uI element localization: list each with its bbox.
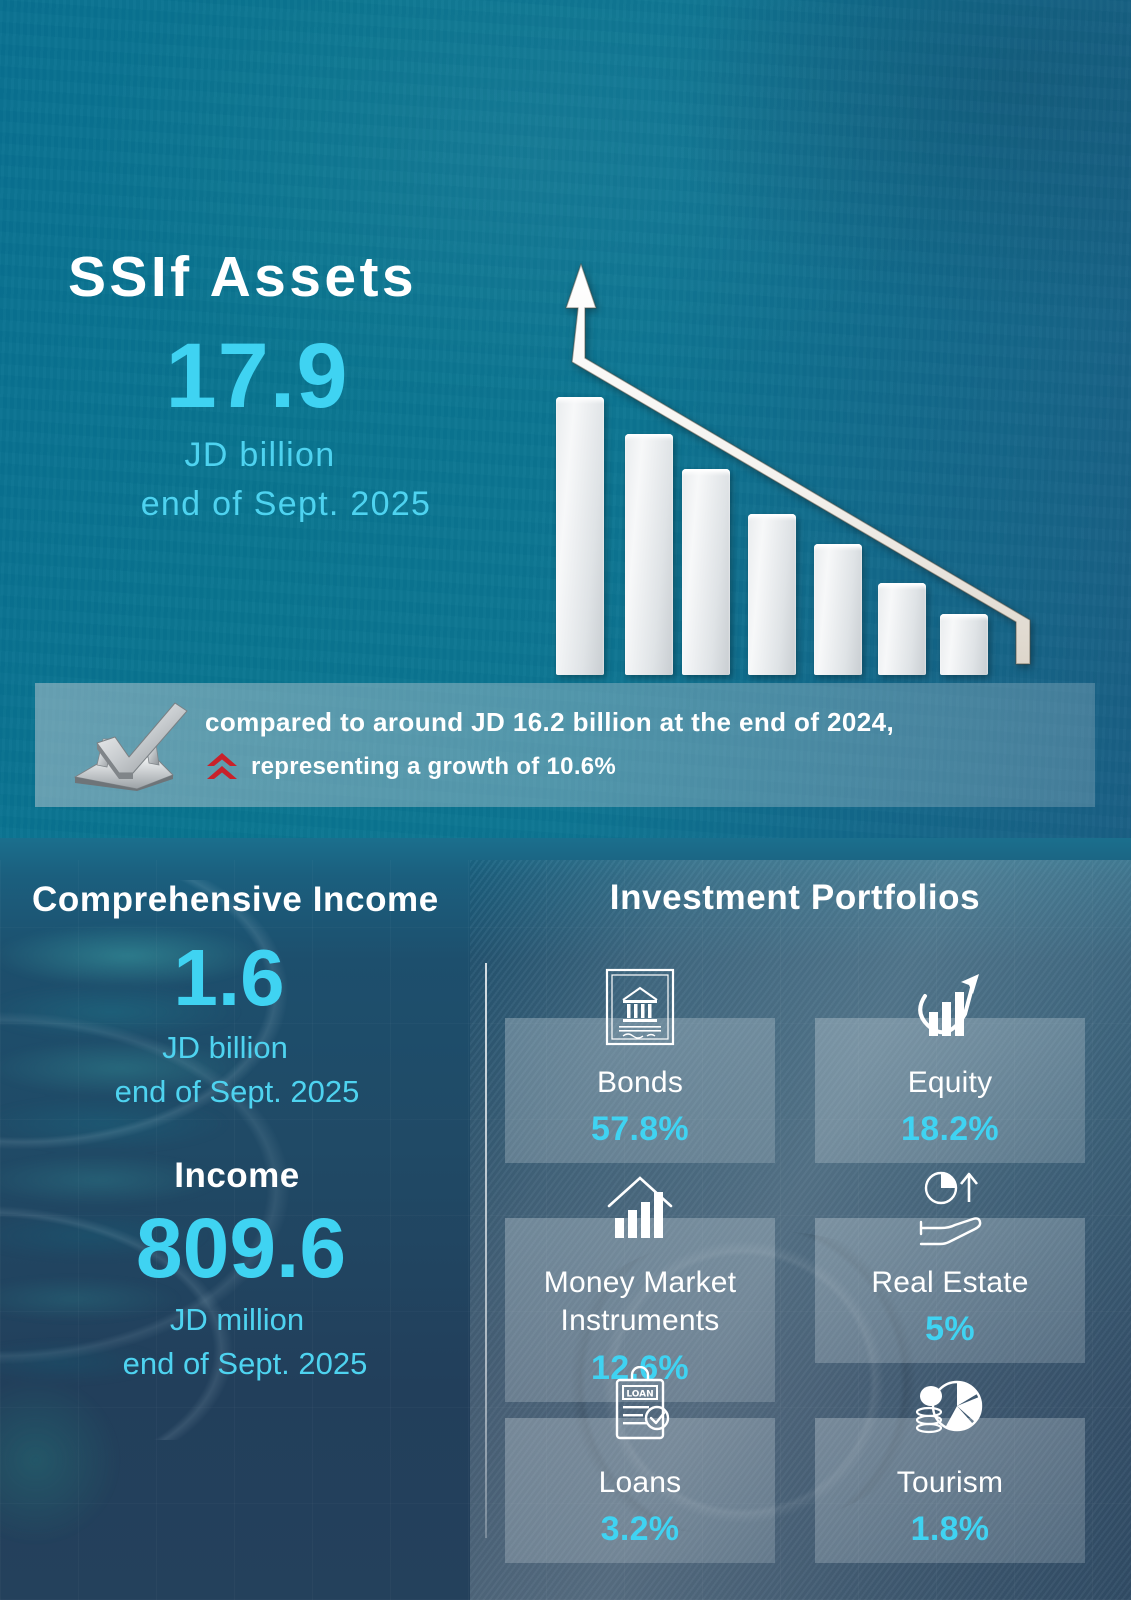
house-bar-chart-icon — [601, 1166, 679, 1248]
portfolio-card-real-estate[interactable]: Real Estate 5% — [815, 1218, 1085, 1363]
portfolio-card-equity[interactable]: Equity 18.2% — [815, 1018, 1085, 1163]
banner-line-2-row: representing a growth of 10.6% — [205, 750, 1075, 784]
portfolio-card-tourism[interactable]: Tourism 1.8% — [815, 1418, 1085, 1563]
hero-unit: JD billion — [68, 436, 508, 475]
svg-text:LOAN: LOAN — [626, 1390, 653, 1400]
assets-bar-chart — [520, 250, 1060, 675]
portfolio-label: Loans — [505, 1464, 775, 1502]
income-title: Income — [24, 1156, 474, 1196]
hero-stat-block: SSIf Assets 17.9 JD billion end of Sept.… — [68, 248, 508, 524]
portfolio-value: 5% — [815, 1310, 1085, 1363]
portfolio-card-loans[interactable]: LOAN Loans 3.2% — [505, 1418, 775, 1563]
loan-clipboard-icon: LOAN — [601, 1366, 679, 1448]
portfolio-value: 57.8% — [505, 1110, 775, 1163]
double-chevron-up-icon — [205, 750, 239, 784]
income-section: Comprehensive Income 1.6 JD billion end … — [24, 880, 474, 1382]
comprehensive-income-unit: JD billion — [24, 1030, 474, 1066]
banner-line-2-text: representing a growth of 10.6% — [251, 753, 616, 781]
investment-portfolios-title: Investment Portfolios — [490, 878, 1110, 918]
portfolio-label: Money Market Instruments — [505, 1264, 775, 1341]
banner-text-block: compared to around JD 16.2 billion at th… — [205, 707, 1075, 784]
hero-date: end of Sept. 2025 — [68, 485, 508, 524]
investment-portfolios-section: Investment Portfolios — [490, 878, 1110, 942]
portfolio-value: 18.2% — [815, 1110, 1085, 1163]
portfolio-label: Real Estate — [815, 1264, 1085, 1302]
bond-certificate-icon — [601, 966, 679, 1048]
income-unit: JD million — [24, 1302, 474, 1338]
column-divider — [485, 963, 487, 1538]
portfolio-label: Equity — [815, 1064, 1085, 1102]
page-title: SSIf Assets — [68, 248, 508, 308]
banner-line-1: compared to around JD 16.2 billion at th… — [205, 707, 1075, 738]
portfolio-value: 1.8% — [815, 1510, 1085, 1563]
trend-arrow-icon — [520, 250, 1060, 675]
comprehensive-income-title: Comprehensive Income — [24, 880, 474, 920]
portfolio-card-bonds[interactable]: Bonds 57.8% — [505, 1018, 775, 1163]
check-mark-3d-icon — [63, 699, 193, 791]
pie-chart-hand-icon — [911, 1166, 989, 1248]
portfolio-value: 3.2% — [505, 1510, 775, 1563]
income-value: 809.6 — [24, 1206, 474, 1290]
growth-chart-arrow-icon — [911, 966, 989, 1048]
portfolio-label: Tourism — [815, 1464, 1085, 1502]
comparison-banner: compared to around JD 16.2 billion at th… — [35, 683, 1095, 807]
comprehensive-income-value: 1.6 — [24, 938, 474, 1018]
pie-chart-coins-icon — [911, 1366, 989, 1448]
hero-value: 17.9 — [68, 330, 508, 422]
income-date: end of Sept. 2025 — [24, 1346, 474, 1382]
comprehensive-income-date: end of Sept. 2025 — [24, 1074, 474, 1110]
infographic-canvas: SSIf Assets 17.9 JD billion end of Sept.… — [0, 0, 1131, 1600]
portfolio-label: Bonds — [505, 1064, 775, 1102]
